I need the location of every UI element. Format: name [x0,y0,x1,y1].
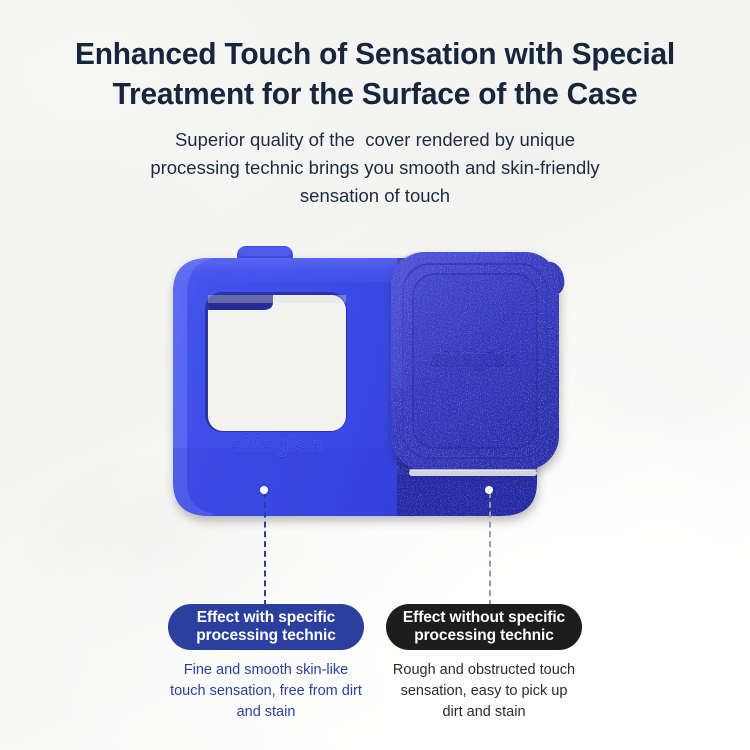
brand-emboss-left-highlight: aMagisn [231,432,323,457]
product-image-silicone-case: aMagisn aMagisn aMa [165,238,585,538]
callout-marker-dot-right [485,486,493,494]
page-subtitle: Superior quality of the cover rendered b… [75,126,675,210]
caption-bad-line-1: Rough and obstructed touch [375,660,593,681]
subtitle-line-2: processing technic brings you smooth and… [75,154,675,182]
badge-bad-line-1: Effect without specific [403,609,565,627]
badge-good-line-1: Effect with specific [196,609,335,627]
subtitle-line-1: Superior quality of the cover rendered b… [75,126,675,154]
lens-cap: aMagisn aMagisn [391,252,559,470]
subtitle-line-3: sensation of touch [75,182,675,210]
caption-good-line-3: and stain [157,702,375,723]
badge-effect-with-technic: Effect with specific processing technic [168,604,364,650]
caption-good-line-2: touch sensation, free from dirt [157,681,375,702]
screen-cutout [205,292,347,432]
caption-bad-line-2: sensation, easy to pick up [375,681,593,702]
brand-emboss-cap-highlight: aMagisn [431,347,519,370]
badge-good-line-2: processing technic [196,627,335,645]
cap-seam [409,469,537,476]
caption-bad-line-3: dirt and stain [375,702,593,723]
headline-line-1: Enhanced Touch of Sensation with Special [13,34,737,74]
callout-leader-line-right [489,492,491,606]
callout-leader-line-left [264,492,266,606]
callout-marker-dot-left [260,486,268,494]
caption-with-technic: Fine and smooth skin-like touch sensatio… [157,660,375,723]
product-feature-banner: Enhanced Touch of Sensation with Special… [0,0,750,750]
page-title: Enhanced Touch of Sensation with Special… [13,34,737,115]
caption-good-line-1: Fine and smooth skin-like [157,660,375,681]
badge-bad-line-2: processing technic [403,627,565,645]
badge-effect-without-technic: Effect without specific processing techn… [386,604,582,650]
headline-line-2: Treatment for the Surface of the Case [13,74,737,114]
caption-without-technic: Rough and obstructed touch sensation, ea… [375,660,593,723]
